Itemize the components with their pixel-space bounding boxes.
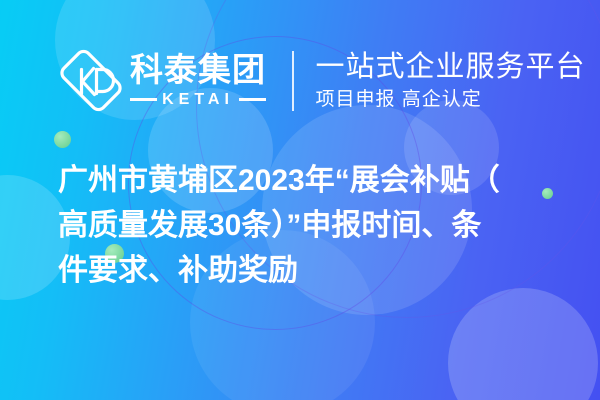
tagline-primary: 一站式企业服务平台 bbox=[316, 50, 586, 84]
wordmark-rule-left bbox=[130, 98, 157, 101]
brand-name-en-row: KETAI bbox=[130, 91, 266, 109]
header-divider bbox=[292, 51, 294, 111]
decorative-circle-7 bbox=[448, 288, 598, 400]
wordmark-rule-right bbox=[239, 98, 266, 101]
page-title: 广州市黄埔区2023年“展会补贴（ 高质量发展30条）”申报时间、条 件要求、补… bbox=[58, 158, 558, 293]
brand-wordmark: 科泰集团 KETAI bbox=[130, 53, 266, 109]
ketai-diamond-logo-icon bbox=[58, 48, 124, 114]
page-title-line-1: 广州市黄埔区2023年“展会补贴（ bbox=[58, 158, 558, 203]
banner-header: 科泰集团 KETAI 一站式企业服务平台 项目申报 高企认定 bbox=[58, 42, 586, 120]
green-dot-icon bbox=[54, 131, 71, 148]
page-title-line-2: 高质量发展30条）”申报时间、条 bbox=[58, 203, 558, 248]
brand-name-en: KETAI bbox=[157, 91, 239, 109]
page-title-line-3: 件要求、补助奖励 bbox=[58, 248, 558, 293]
tagline-secondary: 项目申报 高企认定 bbox=[316, 87, 586, 113]
brand-name-cn: 科泰集团 bbox=[130, 53, 266, 88]
tagline-block: 一站式企业服务平台 项目申报 高企认定 bbox=[316, 50, 586, 113]
promo-banner: 科泰集团 KETAI 一站式企业服务平台 项目申报 高企认定 广州市黄埔区202… bbox=[0, 0, 600, 400]
